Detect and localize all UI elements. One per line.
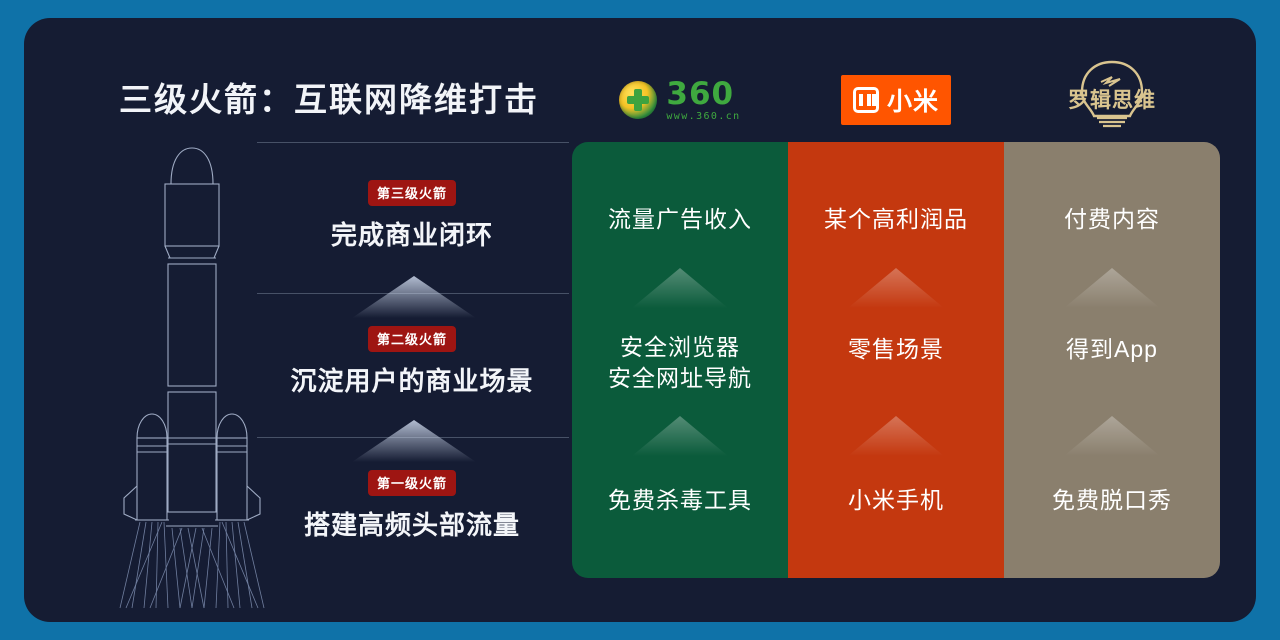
brand-logo-luojisiwei: 罗辑思维 (1004, 64, 1220, 120)
cell-line-2: 安全网址导航 (572, 363, 788, 394)
up-chevron-icon (846, 266, 946, 310)
up-chevron-icon (350, 418, 478, 464)
status-badge: 第二级火箭 (368, 326, 456, 352)
divider-middle (257, 293, 569, 294)
stage-title: 搭建高频头部流量 (257, 505, 567, 542)
page-title: 三级火箭：互联网降维打击 (119, 73, 539, 121)
stage-row-2: 第二级火箭 沉淀用户的商业场景 (257, 326, 567, 398)
slide-root: 三级火箭：互联网降维打击 (0, 0, 1280, 640)
stage-title: 沉淀用户的商业场景 (257, 361, 567, 398)
status-badge: 第三级火箭 (368, 180, 456, 206)
brand-luojisiwei-wordmark: 罗辑思维 (1042, 84, 1182, 114)
cell-xiaomi-stage3: 某个高利润品 (788, 204, 1004, 235)
rocket-illustration (102, 146, 282, 621)
mi-logo-icon (853, 87, 879, 113)
cell-360-stage1: 免费杀毒工具 (572, 485, 788, 516)
column-xiaomi: 某个高利润品 零售场景 小米手机 (788, 142, 1004, 578)
up-chevron-icon (630, 414, 730, 458)
brand-columns: 流量广告收入 安全浏览器 安全网址导航 (572, 142, 1220, 578)
stage-row-3: 第三级火箭 完成商业闭环 (257, 180, 567, 252)
stage-row-1: 第一级火箭 搭建高频头部流量 (257, 470, 567, 542)
up-chevron-icon (630, 266, 730, 310)
cell-360-stage2: 安全浏览器 安全网址导航 (572, 332, 788, 394)
shield-plus-icon (619, 81, 657, 119)
column-360: 流量广告收入 安全浏览器 安全网址导航 (572, 142, 788, 578)
brand-360-wordmark: 360 (666, 79, 740, 110)
up-chevron-icon (1062, 266, 1162, 310)
column-luojisiwei: 付费内容 得到App 免费脱口秀 (1004, 142, 1220, 578)
up-chevron-icon (350, 274, 478, 320)
cell-luojisiwei-stage1: 免费脱口秀 (1004, 485, 1220, 516)
cell-xiaomi-stage2: 零售场景 (788, 334, 1004, 365)
cell-360-stage3: 流量广告收入 (572, 204, 788, 235)
cell-xiaomi-stage1: 小米手机 (788, 485, 1004, 516)
divider-top (257, 142, 569, 143)
up-chevron-icon (846, 414, 946, 458)
brand-logo-xiaomi: 小米 (788, 72, 1004, 128)
up-chevron-icon (1062, 414, 1162, 458)
divider-lower (257, 437, 569, 438)
status-badge: 第一级火箭 (368, 470, 456, 496)
brand-logo-360: 360 www.360.cn (572, 72, 788, 128)
cell-luojisiwei-stage2: 得到App (1004, 334, 1220, 365)
slide-card: 三级火箭：互联网降维打击 (24, 18, 1256, 622)
cell-luojisiwei-stage3: 付费内容 (1004, 204, 1220, 235)
brand-xiaomi-wordmark: 小米 (887, 82, 939, 118)
stage-title: 完成商业闭环 (257, 215, 567, 252)
brand-360-subtext: www.360.cn (666, 112, 740, 122)
cell-line-1: 安全浏览器 (572, 332, 788, 363)
